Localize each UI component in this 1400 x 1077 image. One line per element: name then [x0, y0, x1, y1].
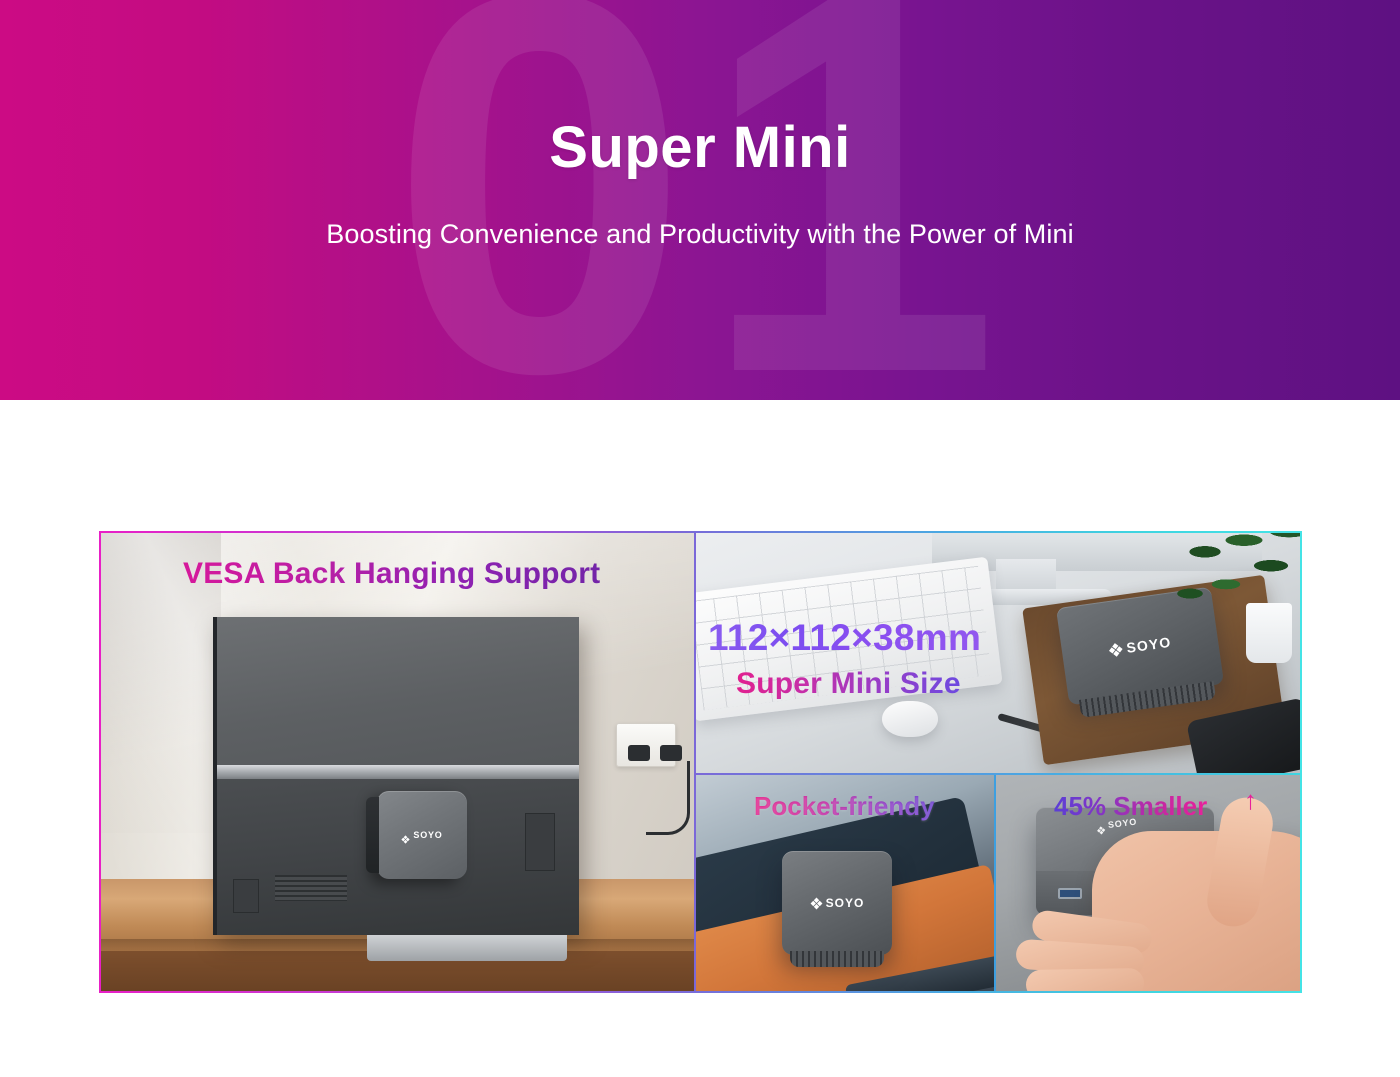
soyo-diamond-icon [1096, 821, 1106, 831]
monitor-band [217, 765, 579, 779]
panel-vesa-mount[interactable]: SOYO VESA Back Hanging Support [101, 533, 696, 991]
hero-banner: 01 Super Mini Boosting Convenience and P… [0, 0, 1400, 400]
page-subtitle: Boosting Convenience and Productivity wi… [326, 219, 1073, 250]
vesa-panel-title: VESA Back Hanging Support [183, 557, 600, 591]
mini-pc-vesa-mounted: SOYO [377, 791, 467, 879]
monitor-vents [275, 875, 347, 901]
finger [1026, 968, 1145, 991]
pocket-panel-title: Pocket-friendy [754, 791, 935, 822]
collage-bottom-row: SOYO Pocket-friendy [696, 775, 1300, 991]
soyo-wordmark: SOYO [413, 830, 442, 840]
monitor-port-panel [525, 813, 555, 871]
panel-45-percent-smaller[interactable]: SOYO [996, 775, 1300, 991]
collage-right-column: SOYO 112×112×38mm Super Mini Size [696, 533, 1300, 991]
mouse [882, 701, 938, 737]
soyo-wordmark: SOYO [826, 896, 865, 910]
cup [1246, 603, 1292, 663]
soyo-logo: SOYO [1108, 634, 1173, 659]
size-subtitle-label: Super Mini Size [736, 667, 961, 701]
size-dimensions-label: 112×112×38mm [708, 617, 981, 659]
hand-palm [1092, 831, 1300, 991]
page-title: Super Mini [549, 118, 850, 179]
panel-pocket-friendly[interactable]: SOYO Pocket-friendy [696, 775, 996, 991]
monitor-rear [213, 617, 579, 935]
arrow-up-icon: ↑ [1244, 787, 1257, 813]
monitor-stand [367, 935, 567, 961]
power-plug [628, 745, 650, 761]
power-cable [646, 761, 690, 835]
soyo-logo: SOYO [810, 896, 865, 910]
monitor-port [233, 879, 259, 913]
soyo-diamond-icon [1108, 641, 1125, 658]
hero-content: Super Mini Boosting Convenience and Prod… [0, 0, 1400, 400]
feature-collage-body: SOYO VESA Back Hanging Support [101, 533, 1300, 991]
usb-port [1058, 888, 1082, 899]
soyo-logo: SOYO [401, 830, 442, 840]
power-plug [660, 745, 682, 761]
mini-pc-in-bag: SOYO [782, 851, 892, 955]
product-feature-page: 01 Super Mini Boosting Convenience and P… [0, 0, 1400, 1077]
thumb [1203, 793, 1277, 930]
soyo-diamond-icon [810, 897, 823, 910]
feature-collage: SOYO VESA Back Hanging Support [99, 531, 1302, 993]
panel-mini-size[interactable]: SOYO 112×112×38mm Super Mini Size [696, 533, 1300, 775]
soyo-wordmark: SOYO [1125, 634, 1172, 656]
smaller-panel-title: 45% Smaller [1054, 791, 1207, 822]
soyo-diamond-icon [401, 831, 410, 840]
